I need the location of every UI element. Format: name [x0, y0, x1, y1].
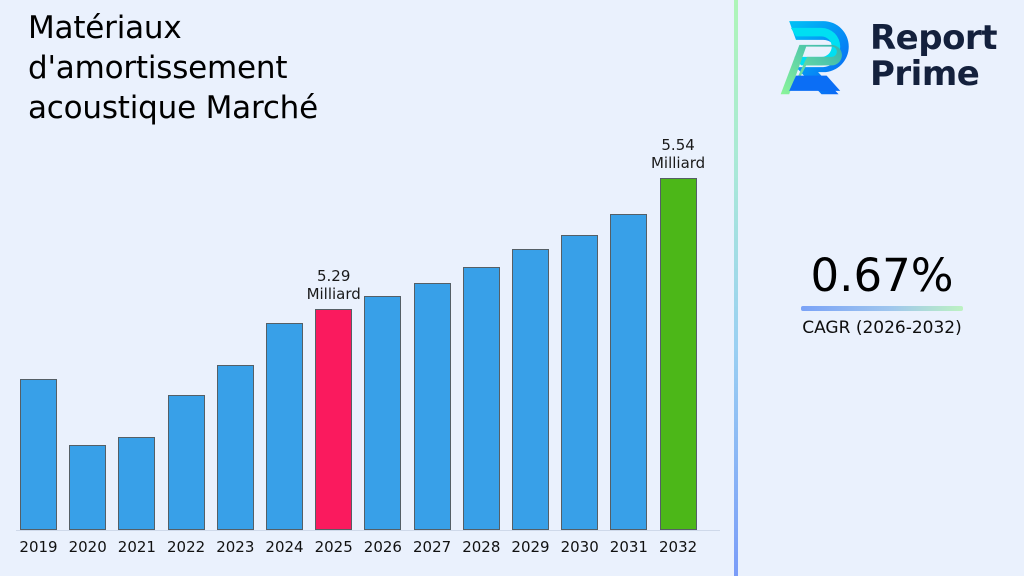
bar-2021[interactable]: [118, 437, 155, 530]
chart-screenshot: Matériaux d'amortissement acoustique Mar…: [0, 0, 1024, 576]
bar-group-2030[interactable]: 2030: [561, 235, 598, 530]
bar-chart-plot: 2019202020212022202320245.29 Milliard202…: [0, 0, 736, 576]
bar-group-2024[interactable]: 2024: [266, 323, 303, 530]
bar-group-2022[interactable]: 2022: [168, 395, 205, 530]
bar-2030[interactable]: [561, 235, 598, 530]
cagr-caption: CAGR (2026-2032): [740, 317, 1024, 339]
bar-value-label-2032: 5.54 Milliard: [651, 136, 705, 172]
bar-group-2032[interactable]: 5.54 Milliard2032: [660, 178, 697, 530]
bar-group-2027[interactable]: 2027: [414, 283, 451, 530]
bar-2020[interactable]: [69, 445, 106, 530]
bar-group-2020[interactable]: 2020: [69, 445, 106, 530]
bar-group-2021[interactable]: 2021: [118, 437, 155, 530]
bar-group-2025[interactable]: 5.29 Milliard2025: [315, 309, 352, 530]
bar-2024[interactable]: [266, 323, 303, 530]
side-panel: Report Prime 0.67% CAGR (2026-2032): [740, 0, 1024, 576]
bar-group-2023[interactable]: 2023: [217, 365, 254, 530]
x-tick-2024: 2024: [265, 538, 303, 556]
chart-panel: Matériaux d'amortissement acoustique Mar…: [0, 0, 736, 576]
x-tick-2026: 2026: [364, 538, 402, 556]
bar-group-2028[interactable]: 2028: [463, 267, 500, 530]
bar-group-2029[interactable]: 2029: [512, 249, 549, 530]
cagr-value: 0.67%: [740, 250, 1024, 302]
bar-2029[interactable]: [512, 249, 549, 530]
cagr-divider: [801, 306, 963, 311]
x-tick-2028: 2028: [462, 538, 500, 556]
bar-2023[interactable]: [217, 365, 254, 530]
brand-logo: Report Prime: [770, 10, 1020, 102]
x-tick-2025: 2025: [315, 538, 353, 556]
bar-2028[interactable]: [463, 267, 500, 530]
bar-group-2031[interactable]: 2031: [610, 214, 647, 530]
bar-2026[interactable]: [364, 296, 401, 530]
x-tick-2032: 2032: [659, 538, 697, 556]
x-tick-2027: 2027: [413, 538, 451, 556]
bar-value-label-2025: 5.29 Milliard: [307, 267, 361, 303]
bar-group-2019[interactable]: 2019: [20, 379, 57, 530]
x-tick-2021: 2021: [118, 538, 156, 556]
report-prime-mark-icon: [770, 16, 856, 96]
bar-2022[interactable]: [168, 395, 205, 530]
x-tick-2031: 2031: [610, 538, 648, 556]
bar-2025[interactable]: [315, 309, 352, 530]
x-tick-2030: 2030: [561, 538, 599, 556]
x-tick-2023: 2023: [216, 538, 254, 556]
x-tick-2019: 2019: [19, 538, 57, 556]
x-tick-2020: 2020: [69, 538, 107, 556]
cagr-block: 0.67% CAGR (2026-2032): [740, 250, 1024, 339]
bar-2032[interactable]: [660, 178, 697, 530]
bar-2019[interactable]: [20, 379, 57, 530]
panel-divider: [734, 0, 738, 576]
bar-2027[interactable]: [414, 283, 451, 530]
x-tick-2029: 2029: [511, 538, 549, 556]
brand-name: Report Prime: [870, 20, 997, 92]
bar-2031[interactable]: [610, 214, 647, 530]
bar-group-2026[interactable]: 2026: [364, 296, 401, 530]
x-tick-2022: 2022: [167, 538, 205, 556]
